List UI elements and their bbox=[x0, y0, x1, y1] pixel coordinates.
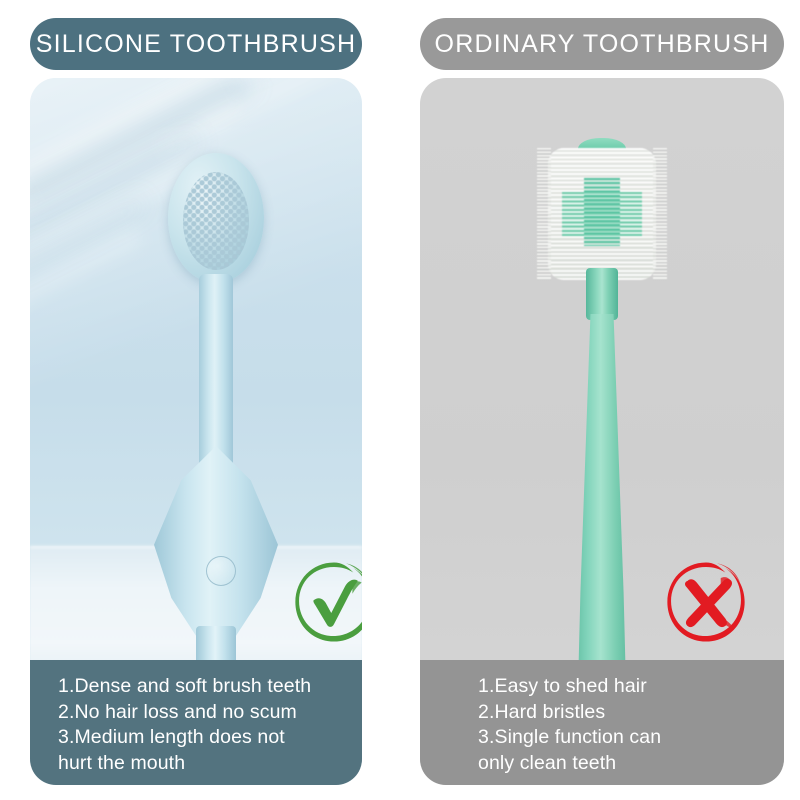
silicone-brush-grip bbox=[154, 446, 278, 636]
ordinary-brush-bristles bbox=[548, 148, 656, 280]
ordinary-bullet-1: 1.Easy to shed hair bbox=[478, 674, 774, 700]
ordinary-photo-card: 1.Easy to shed hair 2.Hard bristles 3.Si… bbox=[420, 78, 784, 785]
ordinary-bullet-3: 3.Single function can only clean teeth bbox=[478, 725, 774, 776]
ordinary-title-text: ORDINARY TOOTHBRUSH bbox=[435, 30, 770, 59]
silicone-bullet-2: 2.No hair loss and no scum bbox=[58, 700, 352, 726]
silicone-bullet-1: 1.Dense and soft brush teeth bbox=[58, 674, 352, 700]
silicone-bullet-3: 3.Medium length does not hurt the mouth bbox=[58, 725, 352, 776]
ordinary-bullet-2: 2.Hard bristles bbox=[478, 700, 774, 726]
ordinary-bristle-fringe bbox=[537, 148, 551, 280]
ordinary-drawbacks-panel: 1.Easy to shed hair 2.Hard bristles 3.Si… bbox=[420, 660, 784, 785]
ordinary-bristle-green-band bbox=[562, 192, 642, 236]
silicone-title-pill: SILICONE TOOTHBRUSH bbox=[30, 18, 362, 70]
silicone-brush-button bbox=[206, 556, 236, 586]
ordinary-title-pill: ORDINARY TOOTHBRUSH bbox=[420, 18, 784, 70]
cross-circle-icon bbox=[660, 556, 752, 648]
silicone-photo-card: 1.Dense and soft brush teeth 2.No hair l… bbox=[30, 78, 362, 785]
silicone-benefits-panel: 1.Dense and soft brush teeth 2.No hair l… bbox=[30, 660, 362, 785]
ordinary-brush-neck bbox=[586, 268, 618, 320]
silicone-bristle-dots bbox=[183, 172, 249, 270]
silicone-toothbrush-column: SILICONE TOOTHBRUSH bbox=[0, 0, 392, 800]
silicone-brush-head bbox=[168, 153, 264, 283]
ordinary-toothbrush-column: ORDINARY TOOTHBRUSH bbox=[408, 0, 800, 800]
silicone-bristle-pad bbox=[183, 172, 249, 270]
silicone-title-text: SILICONE TOOTHBRUSH bbox=[36, 30, 357, 59]
ordinary-bristle-fringe bbox=[653, 148, 667, 280]
check-circle-icon bbox=[288, 556, 362, 648]
comparison-infographic: SILICONE TOOTHBRUSH bbox=[0, 0, 800, 800]
